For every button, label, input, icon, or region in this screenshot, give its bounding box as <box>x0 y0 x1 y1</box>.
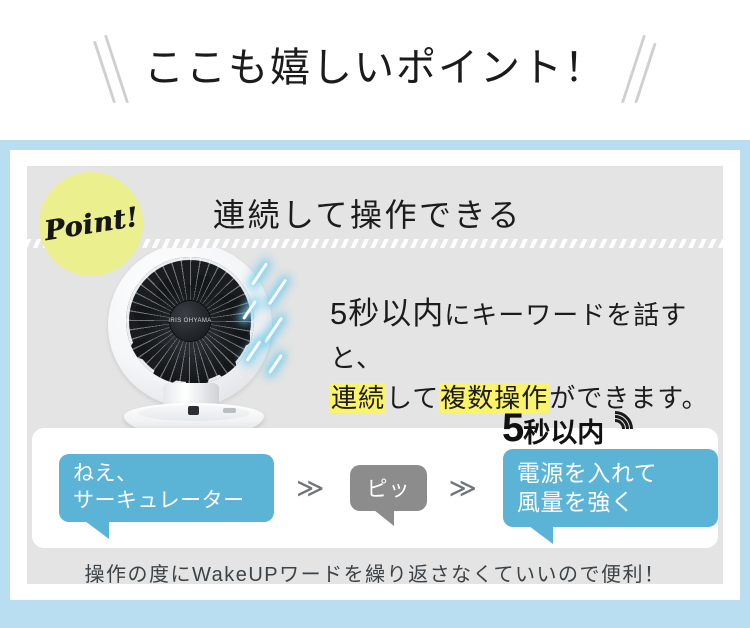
double-chevron-right-icon-2: ≫ <box>449 475 473 502</box>
air-flow-line <box>251 262 268 285</box>
command-bubble: 電源を入れて 風量を強く <box>503 449 718 527</box>
promo-page: ここも嬉しいポイント！ Point! 連続して操作できる IRIS OHYAMA <box>0 0 750 628</box>
air-flow-line <box>264 317 283 344</box>
sound-wave-icon <box>606 409 636 447</box>
fan-indicator-icon <box>223 408 236 413</box>
timer-number: 5 <box>502 410 523 447</box>
desc-line2-mid: して <box>386 383 439 413</box>
brand-mark: IRIS OHYAMA <box>168 318 211 324</box>
feature-description: 5秒以内にキーワードを話すと、 連続して複数操作ができます。 <box>330 290 710 419</box>
wake-word-line-2: サーキュレーター <box>73 488 260 515</box>
page-header: ここも嬉しいポイント！ <box>0 0 750 140</box>
command-line-1: 電源を入れて <box>517 459 704 488</box>
desc-lead: 5秒以内 <box>330 296 444 331</box>
point-badge-label: Point! <box>42 201 140 246</box>
feature-headline: 連続して操作できる <box>213 190 522 236</box>
slash-decoration-left-icon <box>103 35 118 105</box>
air-flow-lines-icon <box>246 257 318 385</box>
point-badge: Point! <box>39 172 143 276</box>
fan-hub: IRIS OHYAMA <box>170 301 210 341</box>
timer-label: 5 秒以内 <box>502 409 636 447</box>
page-title: ここも嬉しいポイント！ <box>144 48 606 92</box>
beep-bubble: ピッ <box>350 465 426 511</box>
air-flow-line <box>246 340 262 362</box>
double-chevron-right-icon-1: ≫ <box>296 475 320 502</box>
fan-sensor-icon <box>188 406 199 415</box>
air-flow-line <box>268 354 283 374</box>
desc-highlight-1: 連続 <box>330 383 386 413</box>
wake-word-bubble: ねえ、 サーキュレーター <box>59 454 274 522</box>
footer-caption: 操作の度にWakeUPワードを繰り返さなくていいので便利！ <box>0 558 750 587</box>
wake-word-line-1: ねえ、 <box>73 461 260 488</box>
air-flow-line <box>268 279 287 306</box>
slash-decoration-right-icon <box>632 35 647 105</box>
timer-unit: 秒以内 <box>523 419 604 447</box>
command-line-2: 風量を強く <box>517 488 704 517</box>
beep-label: ピッ <box>367 473 411 503</box>
circulator-fan-image: IRIS OHYAMA <box>108 243 318 423</box>
